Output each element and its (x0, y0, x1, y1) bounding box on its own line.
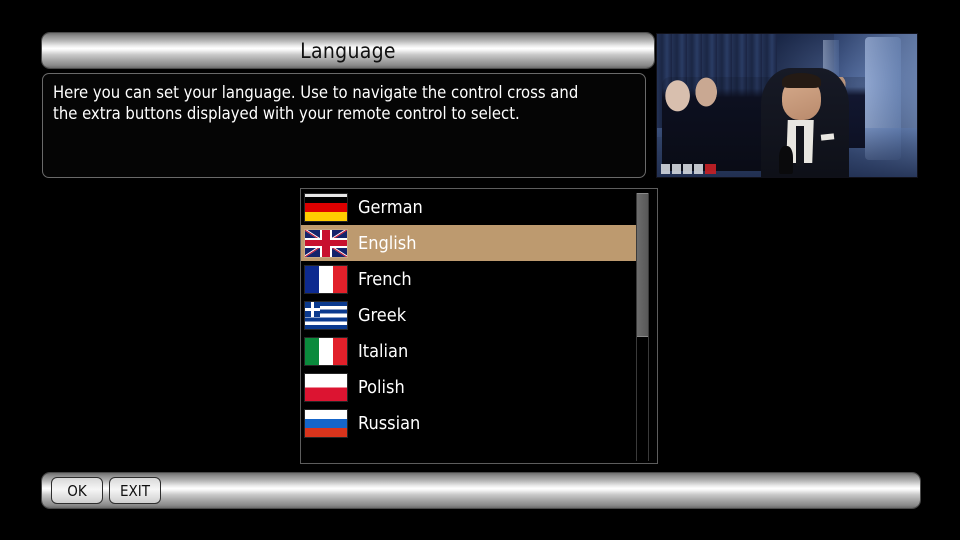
list-scrollbar-thumb[interactable] (637, 193, 648, 337)
flag-gb-icon (305, 230, 347, 257)
list-item-label: French (358, 269, 412, 290)
language-list-panel: German English French Greek (300, 188, 658, 464)
exit-button[interactable]: EXIT (109, 477, 161, 504)
list-item-german[interactable]: German (301, 189, 641, 225)
list-item-label: Italian (358, 341, 408, 362)
preview-reporter-hair (782, 73, 821, 89)
flag-gr-icon (305, 302, 347, 329)
list-item-french[interactable]: French (301, 261, 641, 297)
video-preview[interactable] (656, 33, 918, 178)
list-item-english[interactable]: English (301, 225, 641, 261)
list-item-label: Polish (358, 377, 405, 398)
window-title-bar: Language (42, 33, 654, 68)
list-item-label: English (358, 233, 416, 254)
list-item-polish[interactable]: Polish (301, 369, 641, 405)
flag-ru-icon (305, 410, 347, 437)
preview-microphone (779, 146, 793, 175)
flag-pl-icon (305, 374, 347, 401)
list-scrollbar-track[interactable] (636, 193, 649, 461)
list-item-label: German (358, 197, 423, 218)
news-logo-icon (661, 163, 716, 174)
list-item-italian[interactable]: Italian (301, 333, 641, 369)
bottom-button-bar: OK EXIT (42, 473, 920, 508)
flag-de-icon (305, 194, 347, 221)
list-item-label: Russian (358, 413, 420, 434)
flag-fr-icon (305, 266, 347, 293)
page-title: Language (300, 39, 396, 63)
list-item-greek[interactable]: Greek (301, 297, 641, 333)
flag-it-icon (305, 338, 347, 365)
tv-osd-screen: Language Here you can set your language.… (0, 0, 960, 540)
language-list[interactable]: German English French Greek (301, 189, 641, 441)
ok-button[interactable]: OK (51, 477, 103, 504)
preview-reporter-tie (796, 126, 804, 166)
list-item-label: Greek (358, 305, 406, 326)
description-panel: Here you can set your language. Use to n… (42, 73, 646, 178)
list-item-russian[interactable]: Russian (301, 405, 641, 441)
description-text: Here you can set your language. Use to n… (53, 82, 635, 124)
